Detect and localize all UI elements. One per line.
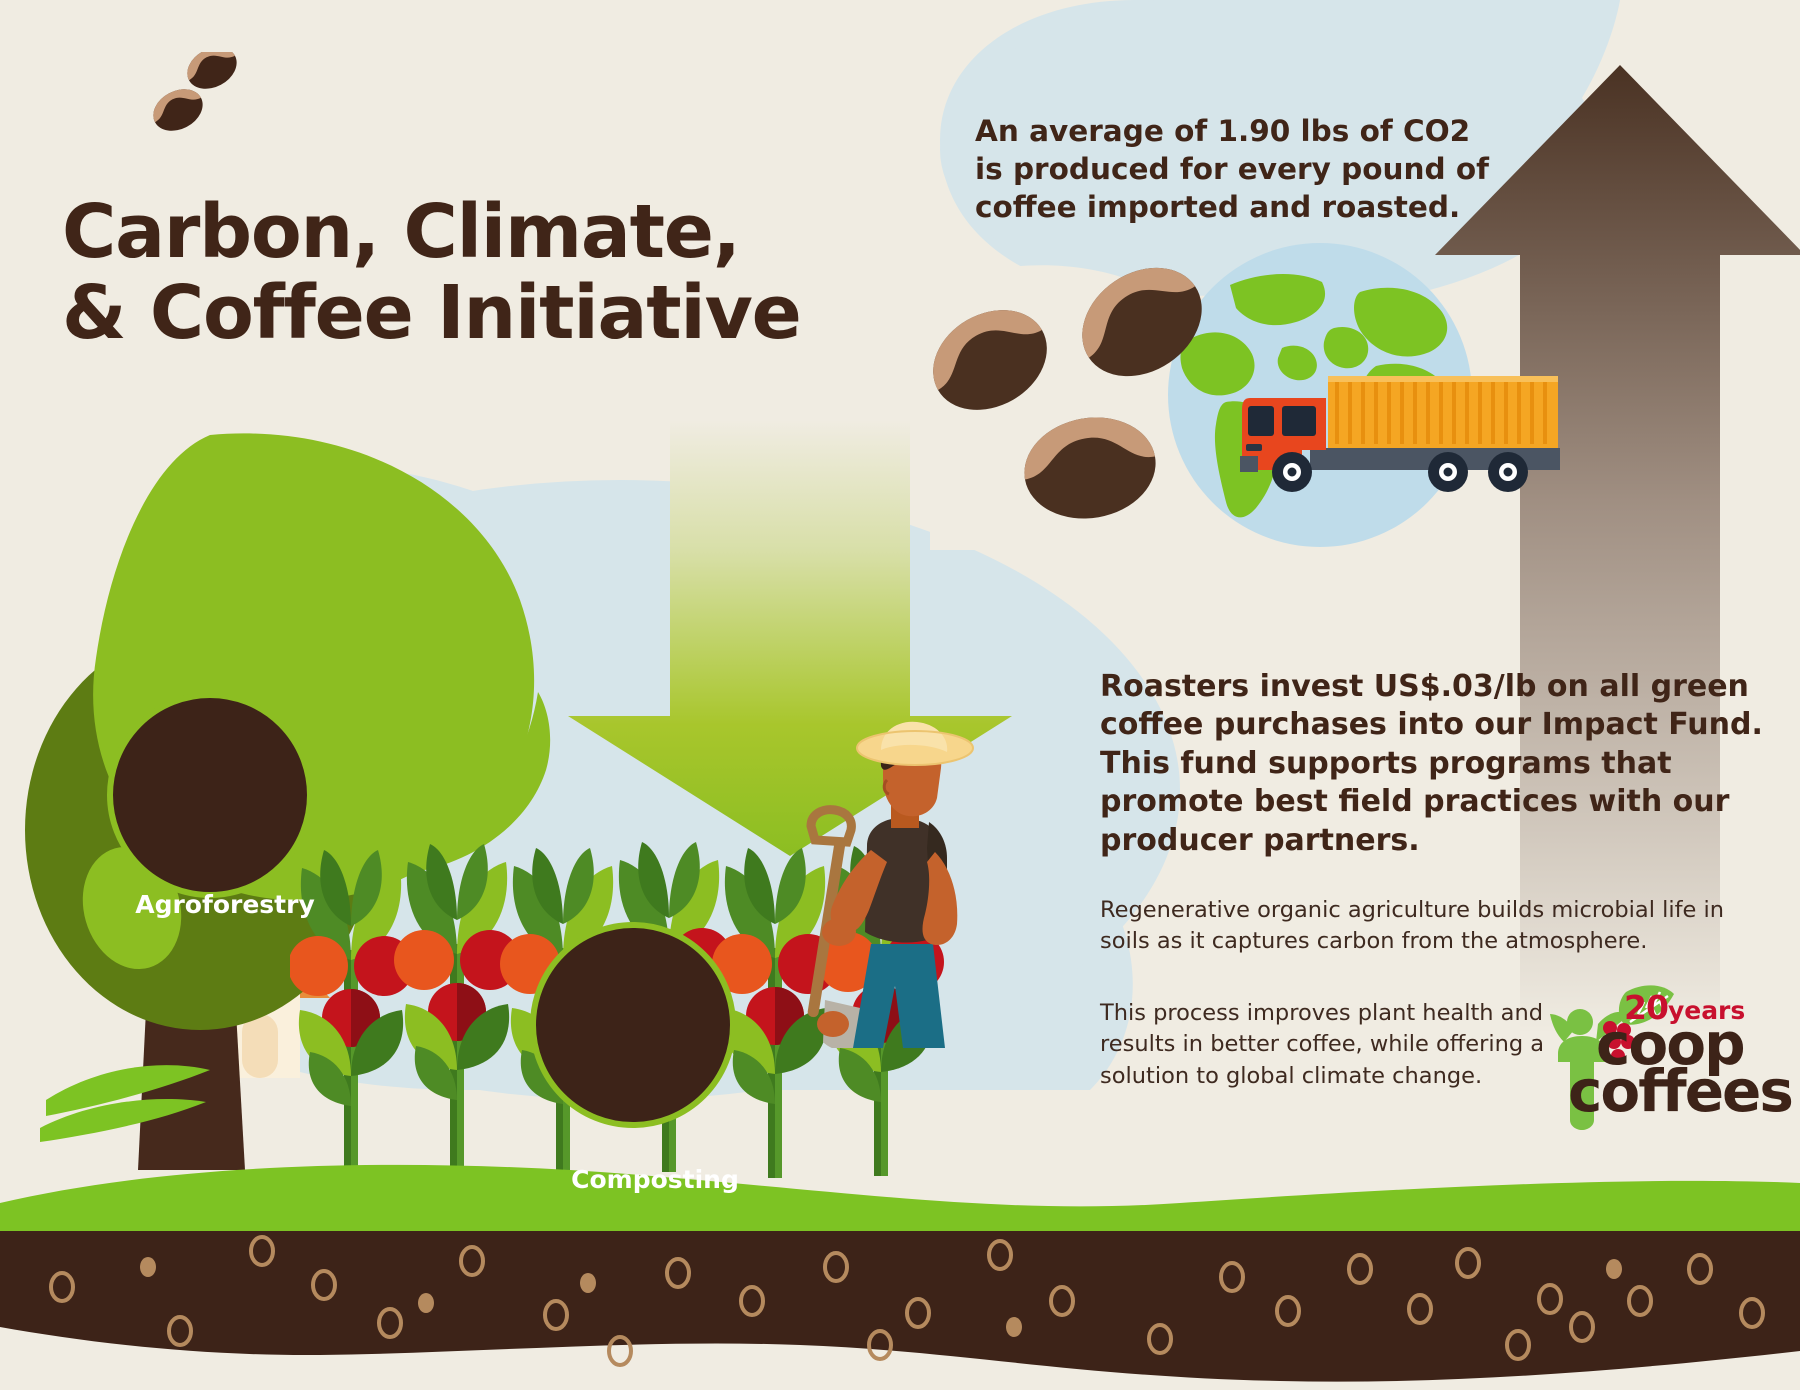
- coffee-beans-decor: [150, 52, 280, 142]
- infographic-poster: Agroforestry Composting Carbon, Climate,…: [0, 0, 1800, 1390]
- soil-cross-section: [0, 1155, 1800, 1390]
- co2-statement-text: An average of 1.90 lbs of CO2 is produce…: [975, 112, 1495, 227]
- agroforestry-node-circle[interactable]: [105, 690, 315, 900]
- impact-fund-heading: Roasters invest US$.03/lb on all green c…: [1100, 668, 1790, 860]
- coop-coffees-logo[interactable]: 20years coop coffees: [1548, 980, 1763, 1130]
- farmer-with-shovel-illustration: [775, 718, 1005, 1048]
- page-title-line-1: Carbon, Climate,: [62, 189, 740, 275]
- shipping-truck-icon: [1240, 368, 1570, 498]
- page-title-line-2: & Coffee Initiative: [62, 273, 942, 354]
- logo-name-coffees: coffees: [1568, 1065, 1792, 1118]
- regenerative-agriculture-paragraph: Regenerative organic agriculture builds …: [1100, 895, 1780, 959]
- page-title: Carbon, Climate, & Coffee Initiative: [62, 192, 942, 355]
- composting-node-circle[interactable]: [528, 920, 738, 1130]
- plant-health-paragraph: This process improves plant health and r…: [1100, 998, 1550, 1094]
